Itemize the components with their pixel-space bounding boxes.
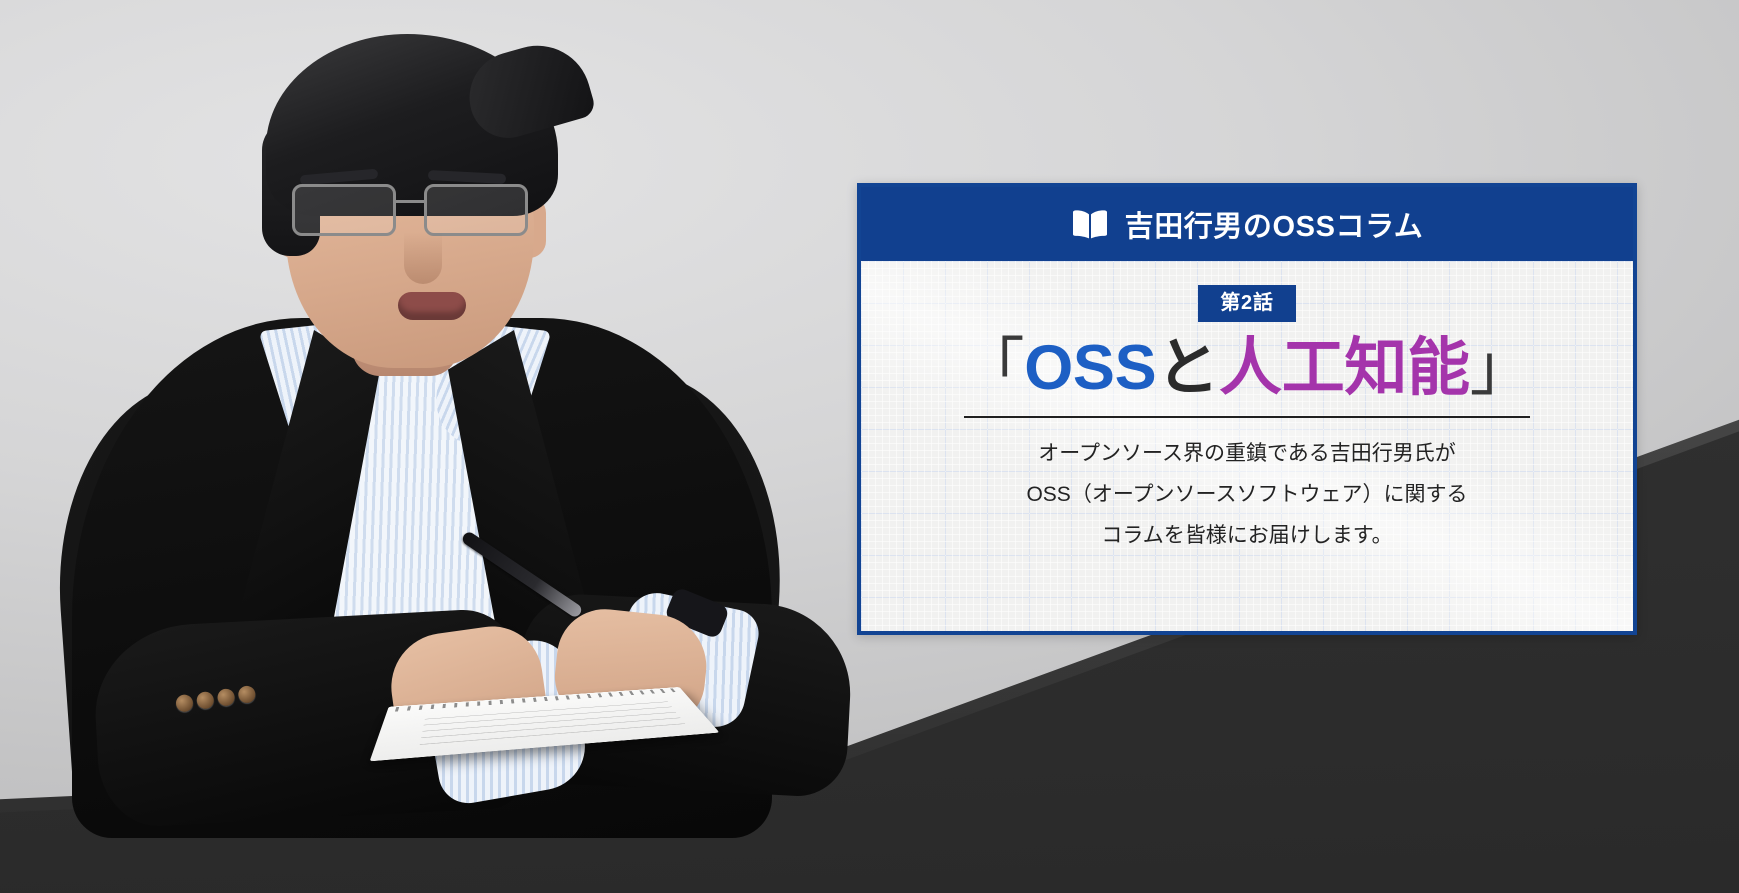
glasses-bridge	[396, 200, 424, 203]
card-header: 吉田行男のOSSコラム	[861, 187, 1633, 261]
description-line-2: OSS（オープンソースソフトウェア）に関する	[891, 475, 1603, 516]
open-book-icon	[1071, 209, 1109, 239]
column-description: オープンソース界の重鎮である吉田行男氏が OSS（オープンソースソフトウェア）に…	[891, 434, 1603, 557]
title-part-oss: OSS	[1024, 333, 1156, 403]
glasses-lens-left	[292, 184, 396, 236]
title-divider	[964, 416, 1530, 418]
column-banner: 吉田行男のOSSコラム 第2話 「OSSと人工知能」 オープンソース界の重鎮であ…	[0, 0, 1739, 893]
title-close-bracket: 」	[1470, 333, 1533, 403]
title-part-conjunction: と	[1156, 333, 1219, 403]
description-line-1: オープンソース界の重鎮である吉田行男氏が	[891, 434, 1603, 475]
column-title: 「OSSと人工知能」	[891, 334, 1603, 402]
person-figure	[0, 0, 870, 893]
nose	[404, 232, 442, 284]
description-line-3: コラムを皆様にお届けします。	[891, 516, 1603, 557]
column-info-card: 吉田行男のOSSコラム 第2話 「OSSと人工知能」 オープンソース界の重鎮であ…	[857, 183, 1637, 635]
episode-badge: 第2話	[1198, 285, 1296, 322]
title-part-ai: 人工知能	[1219, 333, 1470, 403]
card-header-title: 吉田行男のOSSコラム	[1125, 203, 1424, 245]
glasses-lens-right	[424, 184, 528, 236]
mouth	[398, 292, 466, 320]
title-open-bracket: 「	[962, 333, 1025, 403]
card-body: 第2話 「OSSと人工知能」 オープンソース界の重鎮である吉田行男氏が OSS（…	[861, 261, 1633, 631]
